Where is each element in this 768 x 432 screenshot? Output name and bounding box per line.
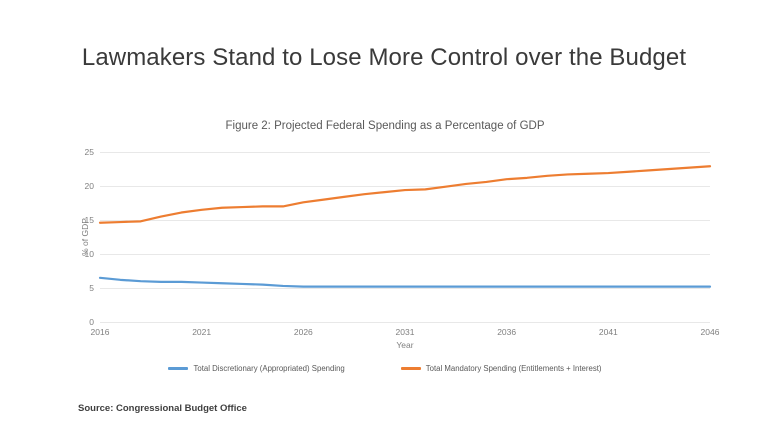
legend-item[interactable]: Total Mandatory Spending (Entitlements +… bbox=[401, 364, 602, 373]
series-line bbox=[100, 278, 710, 287]
y-tick-label: 25 bbox=[85, 147, 94, 157]
x-tick-label: 2036 bbox=[497, 327, 516, 337]
x-tick-label: 2031 bbox=[396, 327, 415, 337]
y-tick-label: 20 bbox=[85, 181, 94, 191]
chart-legend: Total Discretionary (Appropriated) Spend… bbox=[55, 364, 715, 373]
series-line bbox=[100, 166, 710, 222]
gridline bbox=[100, 322, 710, 323]
legend-item[interactable]: Total Discretionary (Appropriated) Spend… bbox=[168, 364, 344, 373]
y-tick-label: 0 bbox=[89, 317, 94, 327]
chart-plot-area: 0510152025 2016202120262031203620412046 … bbox=[100, 152, 710, 322]
y-tick-label: 5 bbox=[89, 283, 94, 293]
chart-series-lines bbox=[100, 152, 710, 322]
source-note: Source: Congressional Budget Office bbox=[78, 403, 247, 414]
x-tick-label: 2016 bbox=[91, 327, 110, 337]
chart-title: Figure 2: Projected Federal Spending as … bbox=[55, 120, 715, 132]
page-title: Lawmakers Stand to Lose More Control ove… bbox=[0, 44, 768, 72]
legend-label: Total Discretionary (Appropriated) Spend… bbox=[193, 364, 344, 373]
x-axis-title: Year bbox=[100, 340, 710, 350]
x-tick-label: 2021 bbox=[192, 327, 211, 337]
legend-label: Total Mandatory Spending (Entitlements +… bbox=[426, 364, 602, 373]
legend-swatch-icon bbox=[401, 367, 421, 370]
slide-canvas: Lawmakers Stand to Lose More Control ove… bbox=[0, 0, 768, 432]
chart-figure: Figure 2: Projected Federal Spending as … bbox=[55, 112, 715, 390]
x-tick-label: 2041 bbox=[599, 327, 618, 337]
legend-swatch-icon bbox=[168, 367, 188, 370]
y-axis-title: % of GDP bbox=[80, 218, 90, 256]
x-tick-label: 2046 bbox=[701, 327, 720, 337]
x-tick-label: 2026 bbox=[294, 327, 313, 337]
